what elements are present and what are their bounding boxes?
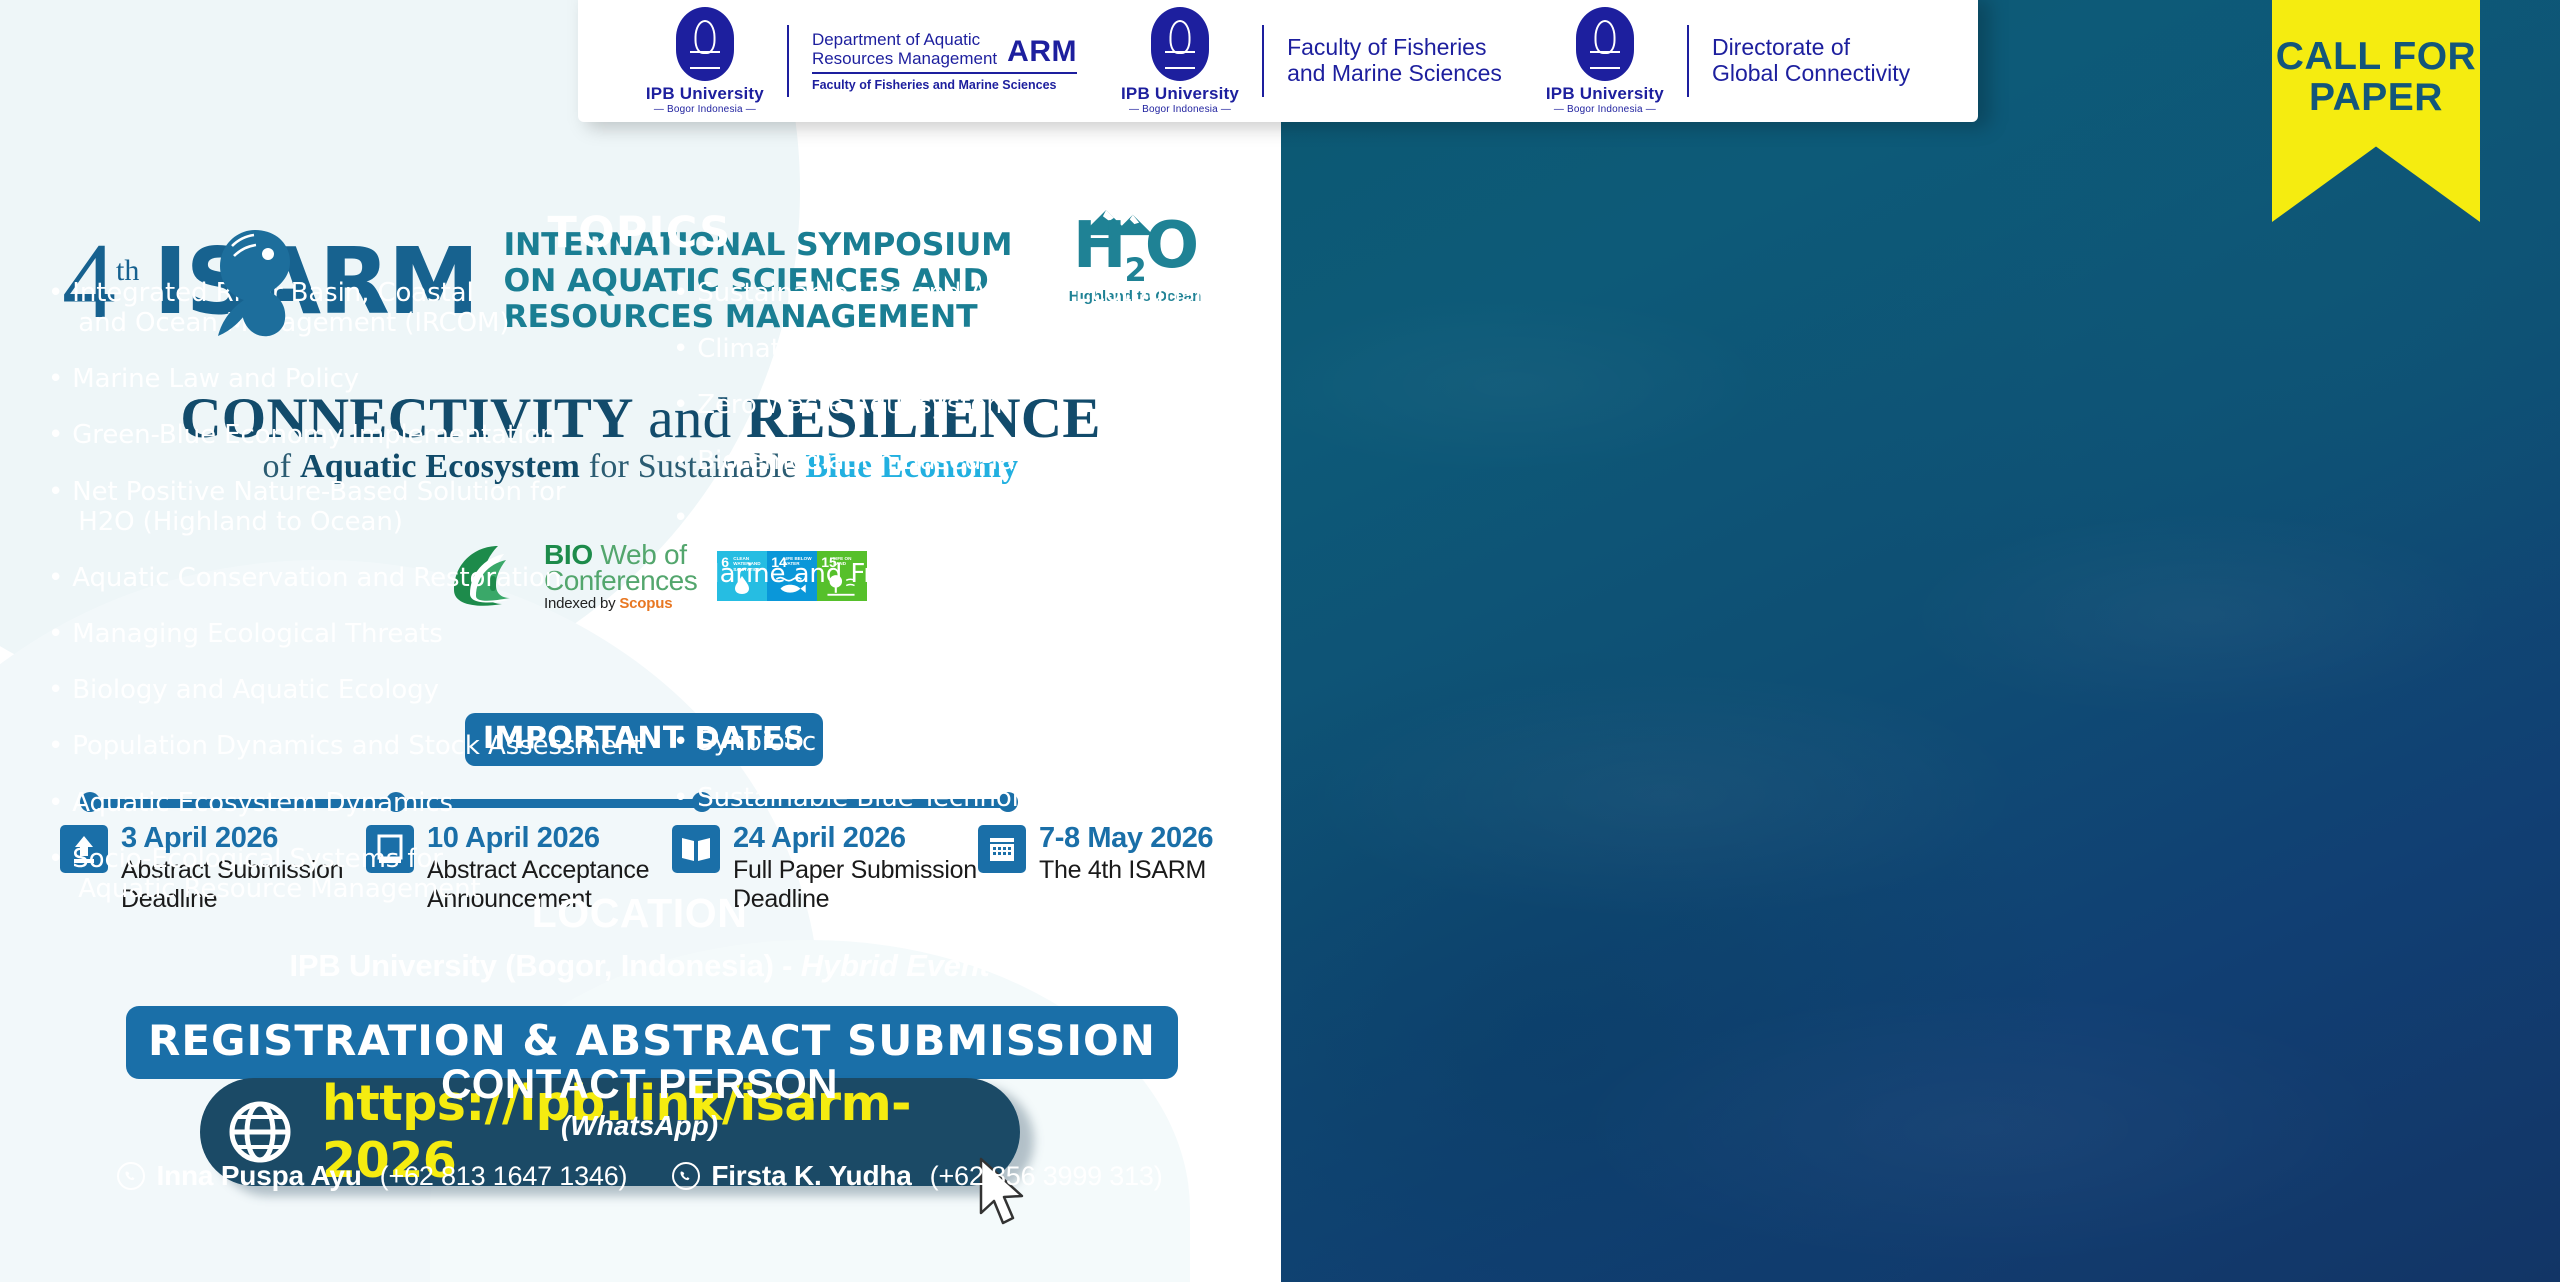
location-venue: IPB University (Bogor, Indonesia) - Hybr… [0, 948, 1279, 984]
whatsapp-icon [671, 1161, 701, 1191]
topic-line-1: Aquatic Conservation and Restoration [72, 563, 561, 593]
topic-line-1: Net Positive Nature-Based Solution for [72, 477, 565, 507]
bullet-icon: • [673, 783, 688, 813]
topics-columns: •Integrated River Basin, Coastaland Ocea… [40, 278, 1270, 930]
topics-column-right: •Sustainable Use and Aquatic Ecotourism … [655, 278, 1270, 930]
ipb-name-1: IPB University [646, 84, 764, 104]
topic-line-1: Climate Change Adaptation [697, 334, 1053, 364]
topic-line-1: Sustainable Use and Aquatic Ecotourism [697, 278, 1220, 308]
underwater-texture [1281, 0, 2560, 1282]
topic-item: •Sustainable Use and Aquatic Ecotourism [673, 278, 1270, 308]
topic-line-1: Marine and Freshwater Ranching [697, 559, 1121, 589]
ipb-crest-icon [1576, 7, 1634, 81]
topic-item: •Sustainable Blue Technology [673, 783, 1270, 813]
arm-text-block: Department of Aquatic Resources Manageme… [812, 30, 1077, 92]
topic-item: •Zero Waste Aquasystem [673, 390, 1270, 420]
topic-item: •Net-pen Cultivation of High Value Speci… [673, 671, 1270, 701]
bullet-icon: • [48, 477, 63, 537]
topic-item: •Net Positive Nature-Based Solution forH… [48, 477, 655, 537]
bullet-icon: • [673, 559, 688, 589]
bullet-icon: • [673, 390, 688, 420]
contact-phone-2: (+62 856 3999 313) [930, 1161, 1163, 1192]
bullet-icon: • [48, 278, 63, 338]
bullet-icon: • [673, 446, 688, 476]
ipb-name-2: IPB University [1121, 84, 1239, 104]
topics-column-left: •Integrated River Basin, Coastaland Ocea… [40, 278, 655, 930]
topic-line-1: Synbiotic Augmentation Aquatic Cultivati… [697, 727, 1260, 757]
bullet-icon: • [48, 675, 63, 705]
topic-line-1: Green-Blue Economy Implementation [72, 420, 556, 450]
contact-name-2: Firsta K. Yudha [711, 1160, 911, 1192]
topic-line-1: Marine Law and Policy [72, 364, 359, 394]
logo-unit-arm: IPB University — Bogor Indonesia — Depar… [624, 7, 1099, 115]
topic-line-1: Managing Ecological Threats [72, 619, 442, 649]
topic-item: •Marine Law and Policy [48, 364, 655, 394]
logo-divider-1 [787, 25, 789, 97]
location-hybrid-event: Hybrid Event [801, 948, 990, 983]
arm-line2: Resources Management [812, 49, 997, 68]
topic-line-1: Seaweed and Seagrass Farming [697, 615, 1109, 645]
arm-rule [812, 72, 1077, 74]
bullet-icon: • [48, 420, 63, 450]
whatsapp-icon [116, 1161, 146, 1191]
bullet-icon: • [48, 619, 63, 649]
ffms-line2: and Marine Sciences [1287, 61, 1502, 87]
bullet-icon: • [673, 615, 688, 645]
ipb-logo-2: IPB University — Bogor Indonesia — [1121, 7, 1239, 115]
arm-line1: Department of Aquatic [812, 30, 997, 49]
conference-poster: IPB University — Bogor Indonesia — Depar… [0, 0, 2560, 1282]
topic-item: •Climate Change Adaptation [673, 334, 1270, 364]
bullet-icon: • [48, 731, 63, 761]
topic-item: •Aquatic Ecosystem Dynamics [48, 788, 655, 818]
dgc-line1: Directorate of [1712, 35, 1910, 61]
dgc-text-block: Directorate of Global Connectivity [1712, 35, 1910, 87]
topic-line-1: Bioremediation Based-farming [697, 446, 1090, 476]
topic-line-1: Sustainable Blue Technology [697, 783, 1066, 813]
ipb-sub-2: — Bogor Indonesia — [1129, 104, 1231, 115]
bullet-icon: • [673, 278, 688, 308]
contact-phone-1: (+62 813 1647 1346) [380, 1161, 628, 1192]
location-heading: LOCATION [0, 890, 1279, 937]
topic-item: •Integrated Trophic Cascade [673, 503, 1270, 533]
logo-divider-2 [1262, 25, 1264, 97]
bullet-icon: • [673, 334, 688, 364]
contact-heading: CONTACT PERSON [0, 1060, 1279, 1108]
topic-line-2: H2O (Highland to Ocean) [72, 507, 565, 537]
bullet-icon: • [48, 563, 63, 593]
topic-item: •Biology and Aquatic Ecology [48, 675, 655, 705]
topic-line-1: Integrated Trophic Cascade [697, 503, 1050, 533]
topic-item: •Population Dynamics and Stock Assessmen… [48, 731, 655, 761]
ffms-text-block: Faculty of Fisheries and Marine Sciences [1287, 35, 1502, 87]
contact-list: Inna Puspa Ayu (+62 813 1647 1346) First… [0, 1160, 1279, 1192]
ipb-crest-icon [676, 7, 734, 81]
arm-acronym: ARM [1007, 35, 1077, 69]
topic-line-1: Biology and Aquatic Ecology [72, 675, 439, 705]
topic-line-1: Population Dynamics and Stock Assessment [72, 731, 643, 761]
bullet-icon: • [673, 727, 688, 757]
contact-subheading: (WhatsApp) [0, 1110, 1279, 1142]
contact-person-2[interactable]: Firsta K. Yudha (+62 856 3999 313) [671, 1160, 1162, 1192]
topics-heading: TOPICS [0, 208, 1279, 258]
bullet-icon: • [48, 364, 63, 394]
bullet-icon: • [673, 503, 688, 533]
bullet-icon: • [48, 788, 63, 818]
topic-item: •Aquatic Conservation and Restoration [48, 563, 655, 593]
ipb-logo-3: IPB University — Bogor Indonesia — [1546, 7, 1664, 115]
topic-item: •Managing Ecological Threats [48, 619, 655, 649]
logo-unit-ffms: IPB University — Bogor Indonesia — Facul… [1099, 7, 1524, 115]
topic-line-1: Aquatic Ecosystem Dynamics [72, 788, 453, 818]
topic-line-1: Net-pen Cultivation of High Value Specie… [697, 671, 1235, 701]
contact-name-1: Inna Puspa Ayu [156, 1160, 361, 1192]
ipb-crest-icon [1151, 7, 1209, 81]
ipb-logo-1: IPB University — Bogor Indonesia — [646, 7, 764, 115]
ipb-name-3: IPB University [1546, 84, 1664, 104]
topic-item: •Integrated River Basin, Coastaland Ocea… [48, 278, 655, 338]
institution-logo-bar: IPB University — Bogor Indonesia — Depar… [578, 0, 1978, 122]
right-panel [1281, 0, 2560, 1282]
location-venue-text: IPB University (Bogor, Indonesia) - [289, 948, 800, 983]
topic-item: •Marine and Freshwater Ranching [673, 559, 1270, 589]
arm-footer: Faculty of Fisheries and Marine Sciences [812, 78, 1077, 92]
bullet-icon: • [673, 671, 688, 701]
ribbon-line-1: CALL FOR [2276, 36, 2476, 77]
topic-item: •Seaweed and Seagrass Farming [673, 615, 1270, 645]
logo-unit-dgc: IPB University — Bogor Indonesia — Direc… [1524, 7, 1932, 115]
logo-divider-3 [1687, 25, 1689, 97]
ffms-line1: Faculty of Fisheries [1287, 35, 1502, 61]
topic-line-1: Zero Waste Aquasystem [697, 390, 1011, 420]
topic-item: •Synbiotic Augmentation Aquatic Cultivat… [673, 727, 1270, 757]
ribbon-line-2: PAPER [2309, 77, 2443, 118]
contact-person-1[interactable]: Inna Puspa Ayu (+62 813 1647 1346) [116, 1160, 627, 1192]
topic-item: •Green-Blue Economy Implementation [48, 420, 655, 450]
dgc-line2: Global Connectivity [1712, 61, 1910, 87]
ipb-sub-1: — Bogor Indonesia — [654, 104, 756, 115]
fish-icon [212, 224, 298, 342]
topic-item: •Bioremediation Based-farming [673, 446, 1270, 476]
topic-line-1: Socio-Ecological Systems for [72, 844, 443, 874]
ipb-sub-3: — Bogor Indonesia — [1554, 104, 1656, 115]
